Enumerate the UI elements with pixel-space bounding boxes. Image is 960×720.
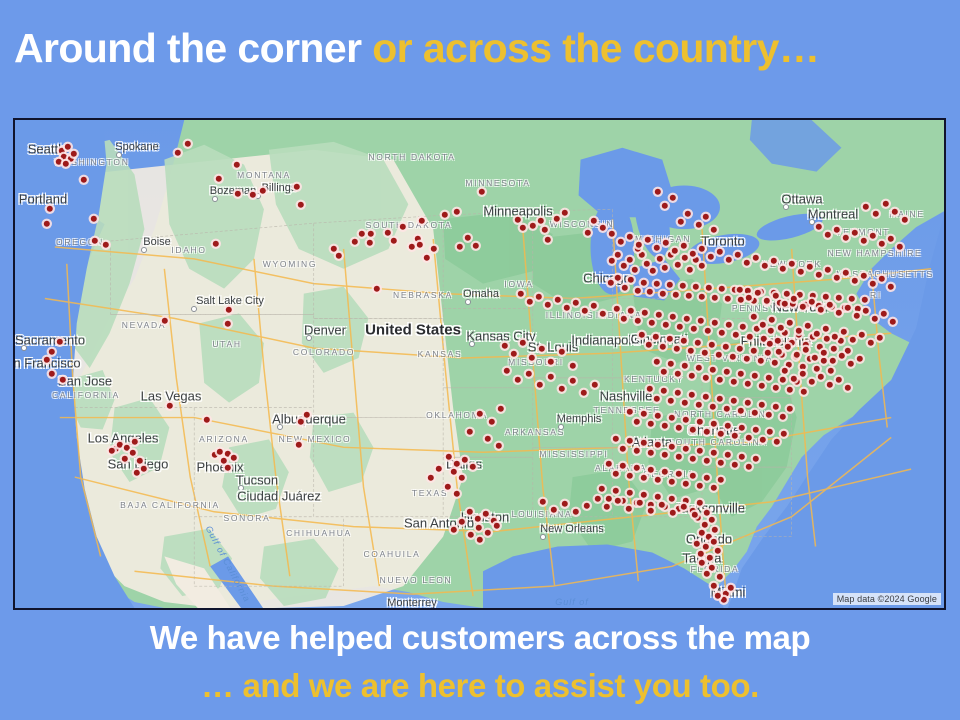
customer-location-marker[interactable] <box>542 227 548 233</box>
customer-location-marker[interactable] <box>818 307 824 313</box>
customer-location-marker[interactable] <box>683 446 689 452</box>
customer-location-marker[interactable] <box>836 310 842 316</box>
customer-location-marker[interactable] <box>825 232 831 238</box>
customer-location-marker[interactable] <box>699 560 705 566</box>
customer-location-marker[interactable] <box>620 446 626 452</box>
customer-location-marker[interactable] <box>467 429 473 435</box>
customer-location-marker[interactable] <box>888 236 894 242</box>
customer-location-marker[interactable] <box>668 361 674 367</box>
customer-location-marker[interactable] <box>49 349 55 355</box>
customer-location-marker[interactable] <box>744 260 750 266</box>
customer-location-marker[interactable] <box>678 219 684 225</box>
customer-location-marker[interactable] <box>816 272 822 278</box>
customer-location-marker[interactable] <box>709 517 715 523</box>
customer-location-marker[interactable] <box>627 473 633 479</box>
customer-location-marker[interactable] <box>109 448 115 454</box>
customer-location-marker[interactable] <box>769 317 775 323</box>
customer-location-marker[interactable] <box>632 267 638 273</box>
customer-location-marker[interactable] <box>683 417 689 423</box>
customer-location-marker[interactable] <box>718 477 724 483</box>
customer-location-marker[interactable] <box>562 210 568 216</box>
customer-location-marker[interactable] <box>710 404 716 410</box>
customer-location-marker[interactable] <box>49 371 55 377</box>
customer-location-marker[interactable] <box>773 404 779 410</box>
customer-location-marker[interactable] <box>698 551 704 557</box>
customer-location-marker[interactable] <box>766 412 772 418</box>
customer-location-marker[interactable] <box>573 509 579 515</box>
customer-location-marker[interactable] <box>800 304 806 310</box>
customer-location-marker[interactable] <box>697 483 703 489</box>
customer-location-marker[interactable] <box>719 286 725 292</box>
customer-location-marker[interactable] <box>648 508 654 514</box>
customer-location-marker[interactable] <box>892 209 898 215</box>
customer-location-marker[interactable] <box>226 307 232 313</box>
customer-location-marker[interactable] <box>462 457 468 463</box>
customer-location-marker[interactable] <box>260 188 266 194</box>
customer-location-marker[interactable] <box>670 195 676 201</box>
customer-location-marker[interactable] <box>711 227 717 233</box>
customer-location-marker[interactable] <box>706 285 712 291</box>
customer-location-marker[interactable] <box>61 154 67 160</box>
customer-location-marker[interactable] <box>690 427 696 433</box>
customer-location-marker[interactable] <box>451 469 457 475</box>
customer-location-marker[interactable] <box>669 479 675 485</box>
customer-location-marker[interactable] <box>641 492 647 498</box>
customer-location-marker[interactable] <box>530 223 536 229</box>
customer-location-marker[interactable] <box>661 388 667 394</box>
customer-location-marker[interactable] <box>124 445 130 451</box>
customer-location-marker[interactable] <box>537 382 543 388</box>
customer-location-marker[interactable] <box>465 235 471 241</box>
customer-location-marker[interactable] <box>703 394 709 400</box>
customer-location-marker[interactable] <box>709 342 715 348</box>
customer-location-marker[interactable] <box>765 350 771 356</box>
customer-location-marker[interactable] <box>646 342 652 348</box>
customer-location-marker[interactable] <box>644 261 650 267</box>
customer-location-marker[interactable] <box>689 373 695 379</box>
customer-location-marker[interactable] <box>843 235 849 241</box>
customer-location-marker[interactable] <box>888 284 894 290</box>
customer-location-marker[interactable] <box>661 369 667 375</box>
customer-location-marker[interactable] <box>711 539 717 545</box>
customer-location-marker[interactable] <box>849 296 855 302</box>
customer-location-marker[interactable] <box>417 242 423 248</box>
customer-location-marker[interactable] <box>391 238 397 244</box>
customer-location-marker[interactable] <box>475 516 481 522</box>
customer-location-marker[interactable] <box>824 336 830 342</box>
customer-location-marker[interactable] <box>47 206 53 212</box>
customer-location-marker[interactable] <box>409 244 415 250</box>
customer-location-marker[interactable] <box>711 450 717 456</box>
customer-location-marker[interactable] <box>843 270 849 276</box>
customer-location-marker[interactable] <box>677 324 683 330</box>
customer-location-marker[interactable] <box>697 448 703 454</box>
customer-location-marker[interactable] <box>175 150 181 156</box>
customer-location-marker[interactable] <box>684 316 690 322</box>
customer-location-marker[interactable] <box>818 374 824 380</box>
customer-location-marker[interactable] <box>647 386 653 392</box>
customer-location-marker[interactable] <box>681 504 687 510</box>
customer-location-marker[interactable] <box>498 406 504 412</box>
customer-location-marker[interactable] <box>504 368 510 374</box>
customer-location-marker[interactable] <box>620 463 626 469</box>
customer-location-marker[interactable] <box>725 423 731 429</box>
customer-location-marker[interactable] <box>863 204 869 210</box>
customer-location-marker[interactable] <box>682 400 688 406</box>
customer-location-marker[interactable] <box>494 523 500 529</box>
customer-location-marker[interactable] <box>609 231 615 237</box>
customer-location-marker[interactable] <box>216 176 222 182</box>
customer-location-marker[interactable] <box>634 419 640 425</box>
customer-location-marker[interactable] <box>784 291 790 297</box>
customer-location-marker[interactable] <box>231 455 237 461</box>
customer-location-marker[interactable] <box>816 224 822 230</box>
customer-location-marker[interactable] <box>780 414 786 420</box>
customer-location-marker[interactable] <box>690 456 696 462</box>
customer-location-marker[interactable] <box>739 425 745 431</box>
customer-location-marker[interactable] <box>662 203 668 209</box>
customer-location-marker[interactable] <box>715 548 721 554</box>
customer-location-marker[interactable] <box>786 362 792 368</box>
customer-location-marker[interactable] <box>551 507 557 513</box>
customer-location-marker[interactable] <box>872 316 878 322</box>
customer-location-marker[interactable] <box>726 257 732 263</box>
customer-location-marker[interactable] <box>760 437 766 443</box>
customer-location-marker[interactable] <box>627 257 633 263</box>
customer-location-marker[interactable] <box>467 509 473 515</box>
customer-location-marker[interactable] <box>615 252 621 258</box>
customer-location-marker[interactable] <box>834 227 840 233</box>
customer-location-marker[interactable] <box>731 379 737 385</box>
customer-location-marker[interactable] <box>772 360 778 366</box>
customer-location-marker[interactable] <box>753 427 759 433</box>
customer-location-marker[interactable] <box>870 281 876 287</box>
customer-location-marker[interactable] <box>731 398 737 404</box>
customer-location-marker[interactable] <box>103 242 109 248</box>
customer-location-marker[interactable] <box>635 318 641 324</box>
customer-location-marker[interactable] <box>627 409 633 415</box>
customer-location-marker[interactable] <box>585 230 591 236</box>
customer-location-marker[interactable] <box>676 471 682 477</box>
customer-location-marker[interactable] <box>791 296 797 302</box>
customer-location-marker[interactable] <box>570 378 576 384</box>
customer-location-marker[interactable] <box>670 510 676 516</box>
customer-location-marker[interactable] <box>724 369 730 375</box>
customer-location-marker[interactable] <box>725 452 731 458</box>
customer-location-marker[interactable] <box>712 295 718 301</box>
customer-location-marker[interactable] <box>828 368 834 374</box>
customer-location-marker[interactable] <box>385 230 391 236</box>
customer-location-marker[interactable] <box>681 338 687 344</box>
customer-location-marker[interactable] <box>442 212 448 218</box>
customer-location-marker[interactable] <box>645 237 651 243</box>
customer-location-marker[interactable] <box>137 458 143 464</box>
customer-location-marker[interactable] <box>654 359 660 365</box>
customer-location-marker[interactable] <box>627 490 633 496</box>
customer-location-marker[interactable] <box>812 355 818 361</box>
customer-location-marker[interactable] <box>141 466 147 472</box>
customer-location-marker[interactable] <box>724 406 730 412</box>
customer-location-marker[interactable] <box>454 491 460 497</box>
customer-location-marker[interactable] <box>473 243 479 249</box>
customer-location-marker[interactable] <box>830 358 836 364</box>
customer-location-marker[interactable] <box>660 291 666 297</box>
customer-location-marker[interactable] <box>752 373 758 379</box>
customer-location-marker[interactable] <box>419 218 425 224</box>
customer-location-marker[interactable] <box>680 283 686 289</box>
customer-location-marker[interactable] <box>581 390 587 396</box>
customer-location-marker[interactable] <box>221 458 227 464</box>
customer-location-marker[interactable] <box>122 456 128 462</box>
customer-location-marker[interactable] <box>681 243 687 249</box>
customer-location-marker[interactable] <box>459 519 465 525</box>
customer-location-marker[interactable] <box>668 398 674 404</box>
customer-location-marker[interactable] <box>515 217 521 223</box>
customer-location-marker[interactable] <box>526 371 532 377</box>
customer-location-marker[interactable] <box>751 298 757 304</box>
customer-location-marker[interactable] <box>890 319 896 325</box>
customer-location-marker[interactable] <box>662 423 668 429</box>
customer-location-marker[interactable] <box>185 141 191 147</box>
customer-location-marker[interactable] <box>762 263 768 269</box>
customer-location-marker[interactable] <box>879 241 885 247</box>
customer-location-marker[interactable] <box>717 574 723 580</box>
customer-location-marker[interactable] <box>428 475 434 481</box>
customer-location-marker[interactable] <box>548 374 554 380</box>
customer-location-marker[interactable] <box>562 501 568 507</box>
customer-location-marker[interactable] <box>655 494 661 500</box>
customer-location-marker[interactable] <box>675 390 681 396</box>
customer-location-marker[interactable] <box>787 406 793 412</box>
customer-location-marker[interactable] <box>496 443 502 449</box>
customer-location-marker[interactable] <box>745 400 751 406</box>
customer-location-marker[interactable] <box>723 344 729 350</box>
customer-location-marker[interactable] <box>636 242 642 248</box>
customer-location-marker[interactable] <box>850 337 856 343</box>
customer-location-marker[interactable] <box>823 326 829 332</box>
customer-location-marker[interactable] <box>693 257 699 263</box>
customer-location-marker[interactable] <box>669 444 675 450</box>
customer-location-marker[interactable] <box>548 359 554 365</box>
customer-location-marker[interactable] <box>235 191 241 197</box>
customer-location-marker[interactable] <box>834 275 840 281</box>
customer-location-marker[interactable] <box>704 571 710 577</box>
customer-location-marker[interactable] <box>827 382 833 388</box>
customer-location-marker[interactable] <box>336 253 342 259</box>
customer-location-marker[interactable] <box>641 475 647 481</box>
customer-location-marker[interactable] <box>781 431 787 437</box>
customer-location-marker[interactable] <box>703 544 709 550</box>
customer-location-marker[interactable] <box>570 363 576 369</box>
customer-location-marker[interactable] <box>669 415 675 421</box>
customer-location-marker[interactable] <box>606 461 612 467</box>
customer-location-marker[interactable] <box>296 442 302 448</box>
customer-location-marker[interactable] <box>479 189 485 195</box>
customer-location-marker[interactable] <box>852 230 858 236</box>
customer-location-marker[interactable] <box>637 500 643 506</box>
customer-location-marker[interactable] <box>663 322 669 328</box>
customer-location-marker[interactable] <box>654 281 660 287</box>
customer-location-marker[interactable] <box>693 284 699 290</box>
customer-location-marker[interactable] <box>773 385 779 391</box>
customer-location-marker[interactable] <box>132 439 138 445</box>
customer-location-marker[interactable] <box>868 340 874 346</box>
customer-location-marker[interactable] <box>717 396 723 402</box>
customer-location-marker[interactable] <box>554 216 560 222</box>
customer-location-marker[interactable] <box>454 209 460 215</box>
customer-location-marker[interactable] <box>359 231 365 237</box>
customer-location-marker[interactable] <box>489 419 495 425</box>
customer-location-marker[interactable] <box>331 246 337 252</box>
customer-location-marker[interactable] <box>747 334 753 340</box>
customer-location-marker[interactable] <box>870 233 876 239</box>
customer-location-marker[interactable] <box>642 310 648 316</box>
customer-location-marker[interactable] <box>732 433 738 439</box>
customer-location-marker[interactable] <box>688 348 694 354</box>
customer-location-marker[interactable] <box>600 225 606 231</box>
customer-location-marker[interactable] <box>854 313 860 319</box>
customer-location-marker[interactable] <box>782 301 788 307</box>
customer-location-marker[interactable] <box>725 296 731 302</box>
customer-location-marker[interactable] <box>794 352 800 358</box>
customer-location-marker[interactable] <box>606 496 612 502</box>
customer-location-marker[interactable] <box>839 353 845 359</box>
customer-location-marker[interactable] <box>719 330 725 336</box>
customer-location-marker[interactable] <box>436 466 442 472</box>
customer-location-marker[interactable] <box>63 161 69 167</box>
customer-location-marker[interactable] <box>667 282 673 288</box>
customer-location-marker[interactable] <box>831 346 837 352</box>
customer-location-marker[interactable] <box>298 419 304 425</box>
customer-location-marker[interactable] <box>604 504 610 510</box>
customer-location-marker[interactable] <box>861 238 867 244</box>
customer-location-marker[interactable] <box>304 412 310 418</box>
customer-location-marker[interactable] <box>836 295 842 301</box>
customer-location-marker[interactable] <box>759 383 765 389</box>
customer-location-marker[interactable] <box>213 241 219 247</box>
customer-location-marker[interactable] <box>845 348 851 354</box>
customer-location-marker[interactable] <box>739 454 745 460</box>
customer-location-marker[interactable] <box>814 366 820 372</box>
customer-location-marker[interactable] <box>65 144 71 150</box>
customer-location-marker[interactable] <box>704 458 710 464</box>
customer-location-marker[interactable] <box>712 527 718 533</box>
customer-location-marker[interactable] <box>457 244 463 250</box>
customer-location-marker[interactable] <box>649 320 655 326</box>
customer-location-marker[interactable] <box>670 314 676 320</box>
customer-location-marker[interactable] <box>91 216 97 222</box>
customer-location-marker[interactable] <box>400 224 406 230</box>
customer-location-marker[interactable] <box>657 256 663 262</box>
customer-location-marker[interactable] <box>735 252 741 258</box>
customer-location-marker[interactable] <box>699 263 705 269</box>
customer-location-marker[interactable] <box>71 151 77 157</box>
customer-location-marker[interactable] <box>855 306 861 312</box>
customer-location-marker[interactable] <box>57 339 63 345</box>
customer-location-marker[interactable] <box>609 258 615 264</box>
customer-location-marker[interactable] <box>648 450 654 456</box>
customer-location-marker[interactable] <box>545 237 551 243</box>
customer-location-marker[interactable] <box>766 375 772 381</box>
customer-location-marker[interactable] <box>751 314 757 320</box>
customer-location-marker[interactable] <box>662 469 668 475</box>
customer-location-marker[interactable] <box>754 326 760 332</box>
customer-location-marker[interactable] <box>780 377 786 383</box>
customer-location-marker[interactable] <box>745 381 751 387</box>
customer-location-marker[interactable] <box>294 184 300 190</box>
customer-location-marker[interactable] <box>685 211 691 217</box>
customer-location-marker[interactable] <box>92 238 98 244</box>
customer-location-marker[interactable] <box>584 503 590 509</box>
customer-location-marker[interactable] <box>669 496 675 502</box>
customer-location-marker[interactable] <box>707 555 713 561</box>
customer-location-marker[interactable] <box>753 255 759 261</box>
customer-location-marker[interactable] <box>697 500 703 506</box>
customer-location-marker[interactable] <box>691 326 697 332</box>
customer-location-marker[interactable] <box>582 308 588 314</box>
customer-location-marker[interactable] <box>771 258 777 264</box>
customer-location-marker[interactable] <box>703 375 709 381</box>
customer-location-marker[interactable] <box>518 291 524 297</box>
customer-location-marker[interactable] <box>746 464 752 470</box>
customer-location-marker[interactable] <box>559 386 565 392</box>
customer-location-marker[interactable] <box>225 321 231 327</box>
customer-location-marker[interactable] <box>879 276 885 282</box>
customer-location-marker[interactable] <box>690 473 696 479</box>
customer-location-marker[interactable] <box>592 382 598 388</box>
customer-location-marker[interactable] <box>56 159 62 165</box>
customer-location-marker[interactable] <box>162 318 168 324</box>
customer-location-marker[interactable] <box>774 439 780 445</box>
customer-location-marker[interactable] <box>787 320 793 326</box>
customer-location-marker[interactable] <box>710 367 716 373</box>
customer-location-marker[interactable] <box>759 402 765 408</box>
customer-location-marker[interactable] <box>477 411 483 417</box>
customer-location-marker[interactable] <box>730 354 736 360</box>
customer-location-marker[interactable] <box>663 240 669 246</box>
customer-location-marker[interactable] <box>825 267 831 273</box>
customer-location-marker[interactable] <box>821 358 827 364</box>
customer-location-marker[interactable] <box>654 245 660 251</box>
customer-location-marker[interactable] <box>352 239 358 245</box>
customer-location-marker[interactable] <box>721 597 727 603</box>
customer-location-marker[interactable] <box>767 341 773 347</box>
customer-location-marker[interactable] <box>451 527 457 533</box>
customer-location-marker[interactable] <box>424 255 430 261</box>
customer-location-marker[interactable] <box>704 510 710 516</box>
customer-location-marker[interactable] <box>768 328 774 334</box>
customer-location-marker[interactable] <box>733 332 739 338</box>
customer-location-marker[interactable] <box>857 356 863 362</box>
customer-location-marker[interactable] <box>635 288 641 294</box>
customer-location-marker[interactable] <box>539 346 545 352</box>
customer-location-marker[interactable] <box>699 294 705 300</box>
customer-location-marker[interactable] <box>117 442 123 448</box>
customer-location-marker[interactable] <box>845 385 851 391</box>
customer-location-marker[interactable] <box>667 336 673 342</box>
customer-location-marker[interactable] <box>852 278 858 284</box>
customer-location-marker[interactable] <box>702 522 708 528</box>
customer-location-marker[interactable] <box>805 323 811 329</box>
customer-location-marker[interactable] <box>614 306 620 312</box>
customer-location-marker[interactable] <box>627 438 633 444</box>
customer-location-marker[interactable] <box>836 377 842 383</box>
customer-location-marker[interactable] <box>520 225 526 231</box>
customer-location-marker[interactable] <box>760 322 766 328</box>
customer-location-marker[interactable] <box>718 431 724 437</box>
customer-location-marker[interactable] <box>767 429 773 435</box>
customer-location-marker[interactable] <box>672 248 678 254</box>
